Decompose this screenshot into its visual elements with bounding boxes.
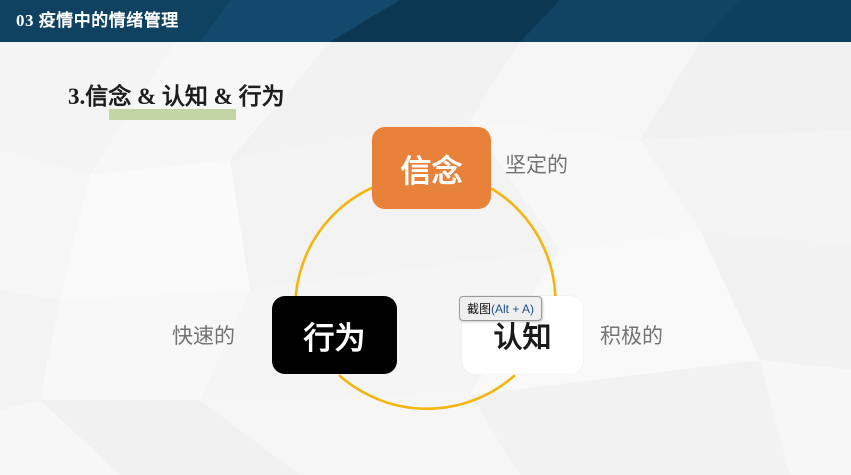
cycle-arc	[0, 0, 851, 475]
descriptor-belief: 坚定的	[505, 149, 568, 179]
node-belief[interactable]: 信念	[372, 127, 491, 209]
slide-canvas: 03 疫情中的情绪管理 3.信念 & 认知 & 行为 信念 行为 认知 坚定的 …	[0, 0, 851, 475]
node-behavior[interactable]: 行为	[272, 296, 397, 374]
background-polygons	[0, 0, 851, 475]
screenshot-tooltip[interactable]: 截图 (Alt + A)	[459, 296, 542, 321]
node-belief-label: 信念	[401, 146, 463, 191]
descriptor-behavior: 快速的	[172, 320, 235, 350]
descriptor-cognition: 积极的	[600, 320, 663, 350]
screenshot-tooltip-shortcut: (Alt + A)	[491, 302, 534, 316]
screenshot-tooltip-label: 截图	[467, 300, 491, 317]
subtitle-text: 3.信念 & 认知 & 行为	[68, 80, 285, 114]
header-title: 03 疫情中的情绪管理	[16, 0, 179, 42]
node-behavior-label: 行为	[304, 313, 366, 358]
slide-header-bar: 03 疫情中的情绪管理	[0, 0, 851, 42]
section-subtitle: 3.信念 & 认知 & 行为	[68, 80, 285, 116]
